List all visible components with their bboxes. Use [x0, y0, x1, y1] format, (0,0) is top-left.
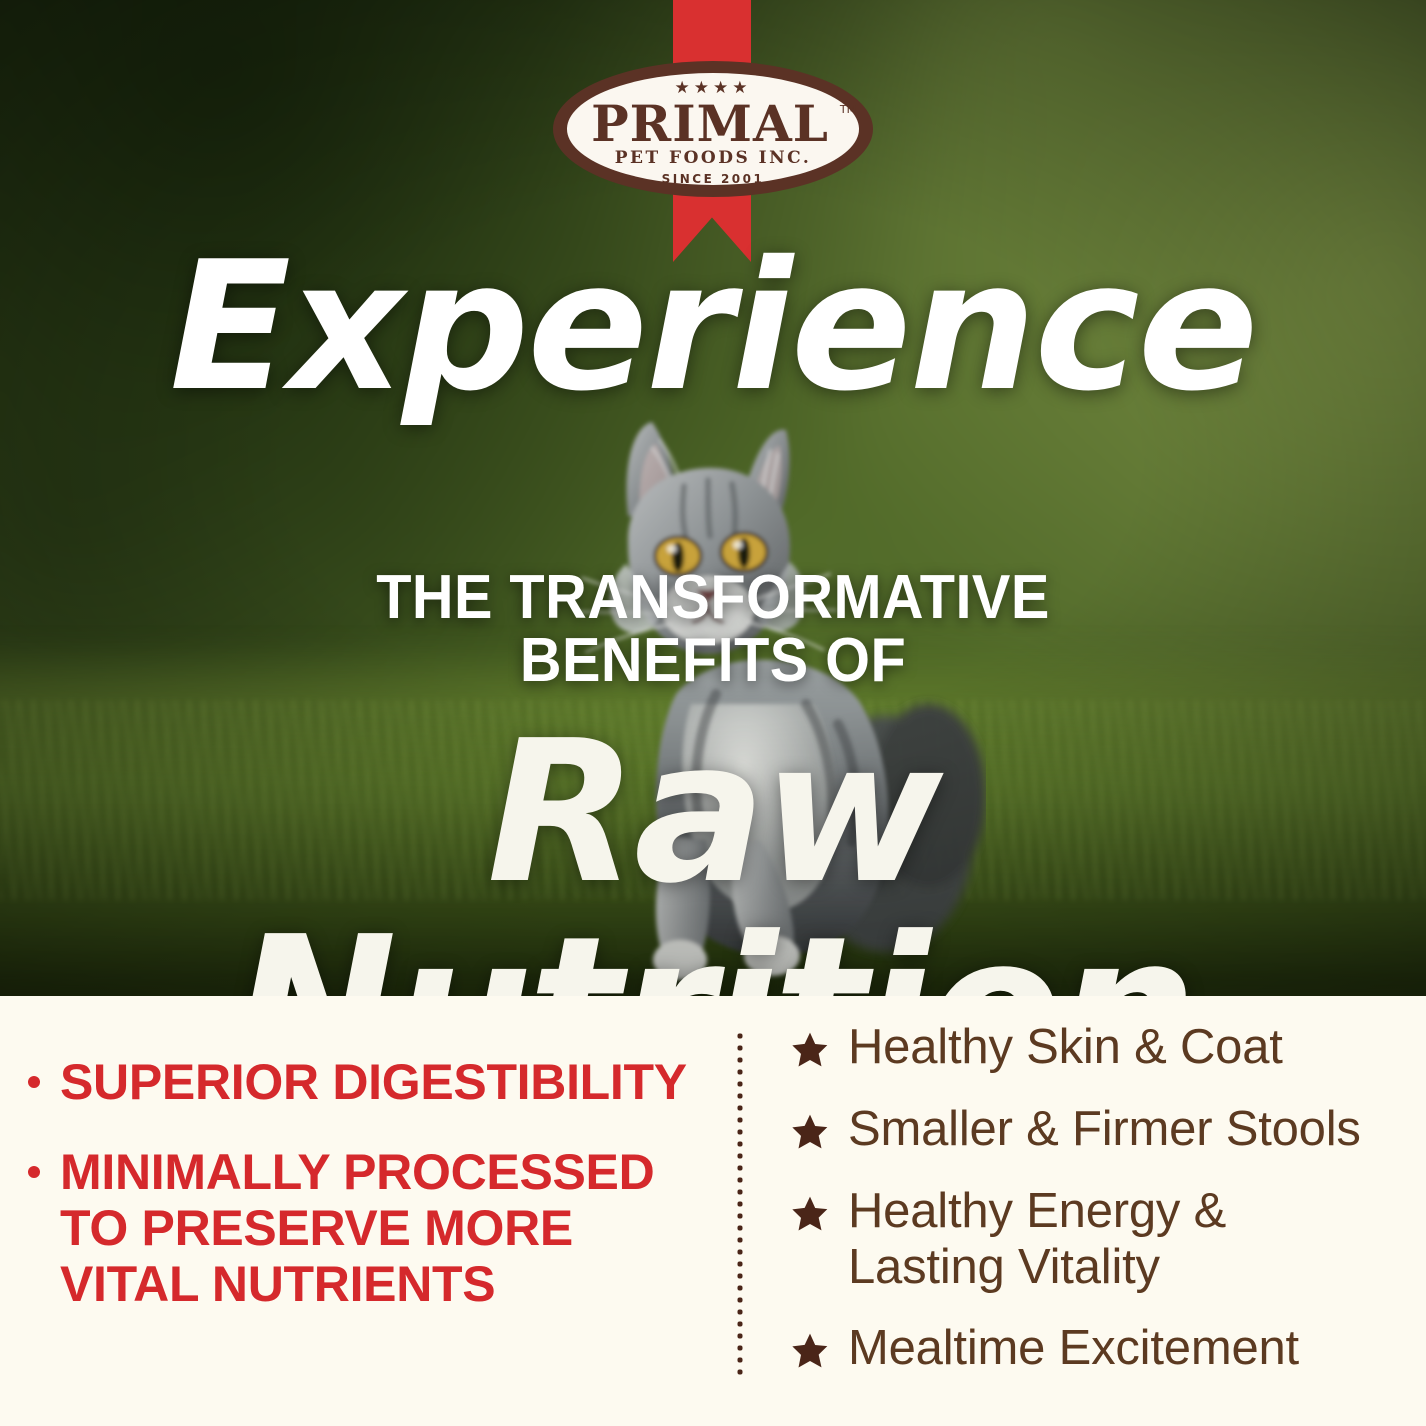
list-item: Smaller & Firmer Stools [786, 1102, 1406, 1158]
svg-text:TM: TM [839, 103, 856, 116]
star-benefit-label: Mealtime Excitement [848, 1321, 1299, 1375]
red-benefit-label: SUPERIOR DIGESTIBILITY [60, 1054, 687, 1110]
benefits-panel: SUPERIOR DIGESTIBILITY MINIMALLY PROCESS… [0, 996, 1426, 1426]
star-benefit-label: Healthy Skin & Coat [848, 1020, 1283, 1074]
headline-script-experience: Experience [0, 238, 1426, 416]
red-benefits-list: SUPERIOR DIGESTIBILITY MINIMALLY PROCESS… [14, 1054, 714, 1346]
svg-text:SINCE 2001: SINCE 2001 [662, 172, 765, 186]
dotted-divider [737, 1030, 743, 1378]
list-item: Healthy Energy & Lasting Vitality [786, 1184, 1406, 1296]
promo-poster: ★★★★ PRIMAL TM PET FOODS INC. SINCE 2001… [0, 0, 1426, 1426]
bullet-dot-icon [28, 1076, 40, 1088]
hero-photo: ★★★★ PRIMAL TM PET FOODS INC. SINCE 2001… [0, 0, 1426, 996]
star-icon [790, 1030, 830, 1070]
star-icon [790, 1331, 830, 1371]
primal-logo: ★★★★ PRIMAL TM PET FOODS INC. SINCE 2001 [548, 57, 878, 202]
list-item: SUPERIOR DIGESTIBILITY [14, 1054, 714, 1110]
list-item: Healthy Skin & Coat [786, 1020, 1406, 1076]
star-benefit-label-line2: Lasting Vitality [848, 1240, 1406, 1296]
svg-text:PET FOODS INC.: PET FOODS INC. [615, 148, 812, 168]
star-benefit-label: Smaller & Firmer Stools [848, 1102, 1361, 1156]
list-item: Mealtime Excitement [786, 1321, 1406, 1377]
list-item: MINIMALLY PROCESSED TO PRESERVE MORE VIT… [14, 1144, 714, 1312]
star-benefits-list: Healthy Skin & Coat Smaller & Firmer Sto… [786, 1020, 1406, 1403]
svg-text:PRIMAL: PRIMAL [591, 94, 829, 153]
star-icon [790, 1112, 830, 1152]
star-benefit-label: Healthy Energy & [848, 1184, 1226, 1238]
subhead-line-1: THE TRANSFORMATIVE [50, 566, 1376, 629]
star-icon [790, 1194, 830, 1234]
bullet-dot-icon [28, 1166, 40, 1178]
headline-script-raw-nutrition: Raw Nutrition [0, 715, 1426, 996]
subhead-line-2: BENEFITS OF [50, 629, 1376, 692]
red-benefit-label: MINIMALLY PROCESSED TO PRESERVE MORE VIT… [60, 1144, 654, 1312]
headline-subhead: THE TRANSFORMATIVE BENEFITS OF [50, 566, 1376, 692]
